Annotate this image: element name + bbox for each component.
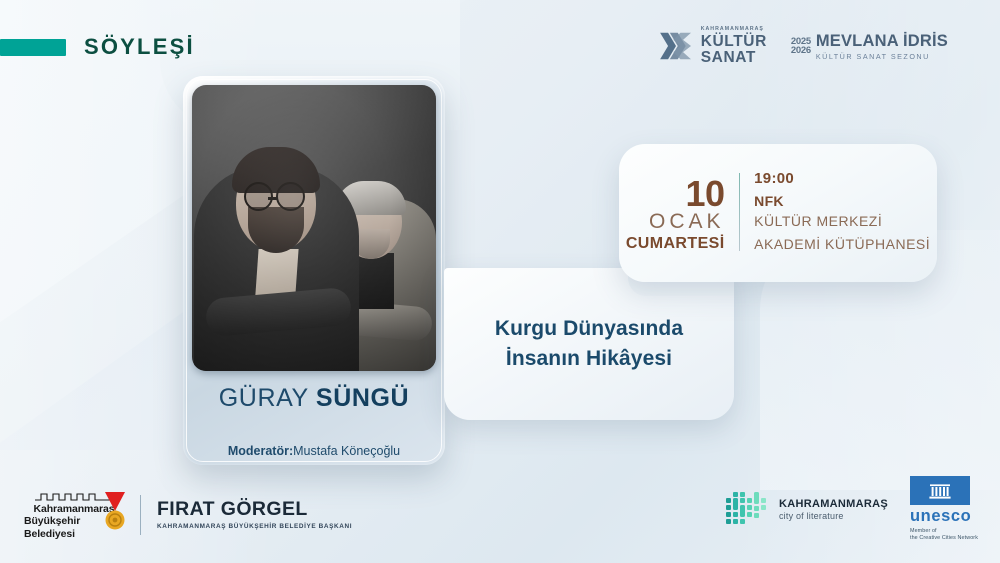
season-name: MEVLANA İDRİS bbox=[816, 33, 948, 50]
kks-logo-icon bbox=[658, 31, 694, 61]
city-of-literature-tagline: city of literature bbox=[779, 512, 888, 522]
unesco-sub-line2: the Creative Cities Network bbox=[910, 535, 978, 543]
venue-line-1: KÜLTÜR MERKEZİ bbox=[754, 212, 930, 230]
date-month: OCAK bbox=[626, 210, 725, 234]
kicker-bar-icon bbox=[0, 39, 66, 56]
season-logo: 2025 2026 MEVLANA İDRİS KÜLTÜR SANAT SEZ… bbox=[791, 33, 948, 60]
mayor-name: FIRAT GÖRGEL bbox=[157, 500, 352, 520]
event-time: 19:00 bbox=[754, 171, 930, 186]
event-poster: SÖYLEŞİ KAHRAMANMARAŞ KÜLTÜR SANAT 2025 … bbox=[0, 0, 1000, 563]
event-title-panel: Kurgu Dünyasında İnsanın Hikâyesi bbox=[444, 268, 734, 420]
kks-line2: SANAT bbox=[701, 50, 767, 66]
category-kicker: SÖYLEŞİ bbox=[0, 34, 195, 60]
venue-short-name: NFK bbox=[754, 194, 930, 208]
kks-line1: KÜLTÜR bbox=[701, 34, 767, 50]
date-day-number: 10 bbox=[626, 177, 725, 210]
unesco-sub-line1: Member of bbox=[910, 528, 978, 536]
photo-vignette bbox=[192, 85, 436, 371]
pixel-grid-icon bbox=[726, 492, 770, 528]
season-year-bottom: 2026 bbox=[791, 46, 811, 56]
kicker-label: SÖYLEŞİ bbox=[84, 34, 195, 60]
event-title-line2: İnsanın Hikâyesi bbox=[495, 344, 683, 374]
speaker-first-name: GÜRAY bbox=[219, 384, 316, 412]
footer-divider bbox=[140, 495, 141, 535]
municipality-logo: Kahramanmaraş Büyükşehir Belediyesi bbox=[24, 490, 124, 541]
speaker-name-block: GÜRAY SÜNGÜ bbox=[183, 386, 445, 411]
footer-right: KAHRAMANMARAŞ city of literature unesco … bbox=[726, 476, 978, 543]
unesco-wordmark: unesco bbox=[910, 508, 971, 525]
venue-block: 19:00 NFK KÜLTÜR MERKEZİ AKADEMİ KÜTÜPHA… bbox=[740, 171, 930, 253]
mayor-block: FIRAT GÖRGEL KAHRAMANMARAŞ BÜYÜKŞEHİR BE… bbox=[157, 500, 352, 530]
city-of-literature-logo: KAHRAMANMARAŞ city of literature bbox=[726, 492, 888, 528]
venue-line-2: AKADEMİ KÜTÜPHANESİ bbox=[754, 235, 930, 253]
event-title-line1: Kurgu Dünyasında bbox=[495, 314, 683, 344]
date-block: 10 OCAK CUMARTESİ bbox=[626, 177, 739, 253]
kks-top-label: KAHRAMANMARAŞ bbox=[701, 27, 767, 32]
unesco-logo: unesco Member of the Creative Cities Net… bbox=[910, 476, 978, 543]
city-of-literature-name: KAHRAMANMARAŞ bbox=[779, 498, 888, 510]
speaker-photo bbox=[192, 85, 436, 371]
brand-logos: KAHRAMANMARAŞ KÜLTÜR SANAT 2025 2026 MEV… bbox=[658, 27, 948, 66]
mayor-role: KAHRAMANMARAŞ BÜYÜKŞEHİR BELEDİYE BAŞKAN… bbox=[157, 524, 352, 530]
unesco-emblem-box bbox=[910, 476, 970, 505]
date-weekday: CUMARTESİ bbox=[626, 234, 725, 253]
moderator-label: Moderatör: bbox=[228, 444, 293, 458]
moderator-name: Mustafa Köneçoğlu bbox=[293, 444, 400, 458]
moderator-line: Moderatör:Mustafa Köneçoğlu bbox=[183, 444, 445, 458]
unesco-temple-icon bbox=[929, 481, 951, 501]
speaker-card: GÜRAY SÜNGÜ Moderatör:Mustafa Köneçoğlu bbox=[183, 76, 445, 465]
footer-left: Kahramanmaraş Büyükşehir Belediyesi FIRA… bbox=[24, 490, 352, 541]
event-date-panel: 10 OCAK CUMARTESİ 19:00 NFK KÜLTÜR MERKE… bbox=[619, 144, 937, 282]
medal-icon bbox=[102, 492, 128, 532]
kks-logo: KAHRAMANMARAŞ KÜLTÜR SANAT bbox=[658, 27, 767, 66]
season-subtitle: KÜLTÜR SANAT SEZONU bbox=[816, 53, 948, 60]
speaker-last-name: SÜNGÜ bbox=[316, 384, 409, 412]
